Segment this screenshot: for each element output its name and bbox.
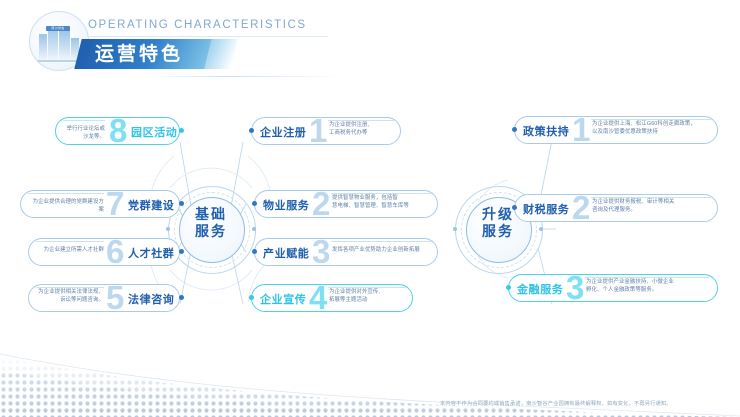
node-basic-6-name: 人才社群: [128, 245, 174, 261]
node-basic-1[interactable]: 企业注册 1 为企业提供注册、 工商税务代办等: [243, 117, 401, 145]
node-basic-2-name: 物业服务: [263, 197, 309, 213]
node-basic-2[interactable]: 物业服务 2 提供智慧物业服务，包括智 慧电梯、智慧管理、智慧车库等: [246, 190, 438, 218]
node-basic-3-desc: 发挥各项产业优势助力企业创新拓展: [332, 246, 432, 254]
node-upgrade-3-number: 3: [566, 266, 584, 310]
node-basic-5-number: 5: [106, 276, 124, 320]
node-basic-6-desc: 为企业建立所需人才社群: [36, 246, 104, 254]
node-upgrade-1-desc: 为企业提供上海、松江G60科创走廊政策， 以及南沙管委优惠政策扶持: [592, 120, 712, 136]
node-basic-5-desc: 为企业提供相关法律法规、 诉讼等问题咨询。: [36, 288, 104, 304]
node-upgrade-2-name: 财税服务: [523, 201, 569, 217]
node-basic-7-desc: 为企业提供合理的党群建设方案: [28, 198, 104, 214]
node-upgrade-1[interactable]: 政策扶持 1 为企业提供上海、松江G60科创走廊政策， 以及南沙管委优惠政策扶持: [506, 116, 718, 144]
page-title: 运营特色: [95, 43, 215, 67]
logo-cap-text: 南沙智谷: [46, 26, 70, 31]
node-basic-7[interactable]: 党群建设 7 为企业提供合理的党群建设方案: [20, 190, 188, 218]
node-upgrade-1-number: 1: [572, 108, 590, 152]
node-basic-4-number: 4: [309, 276, 327, 320]
node-basic-1-number: 1: [309, 109, 327, 153]
node-basic-2-desc: 提供智慧物业服务，包括智 慧电梯、智慧管理、智慧车库等: [332, 194, 432, 210]
node-basic-2-number: 2: [312, 182, 330, 226]
node-basic-3[interactable]: 产业赋能 3 发挥各项产业优势助力企业创新拓展: [246, 238, 438, 266]
node-basic-4-name: 企业宣传: [260, 291, 306, 307]
node-basic-1-desc: 为企业提供注册、 工商税务代办等: [329, 121, 395, 137]
node-basic-7-number: 7: [106, 182, 124, 226]
operating-characteristics-diagram: 基础 服务 企业注册 1 为企业提供注册、 工商税务代办等 物业服务 2 提供智…: [0, 92, 740, 342]
header-underline: [150, 76, 340, 77]
node-upgrade-2-number: 2: [572, 186, 590, 230]
hub-basic-services-label: 基础 服务: [179, 206, 243, 240]
node-upgrade-2[interactable]: 财税服务 2 为企业提供财务报税、审计等相关 咨询及代理服务。: [506, 194, 718, 222]
node-basic-5-name: 法律咨询: [128, 291, 174, 307]
page-header: 南沙智谷 OPERATING CHARACTERISTICS 运营特色: [0, 0, 740, 92]
node-basic-7-name: 党群建设: [128, 197, 174, 213]
node-basic-4[interactable]: 企业宣传 4 为企业提供对外宣传、 拓展等主题活动: [243, 284, 413, 312]
logo-cap: 南沙智谷: [46, 26, 70, 31]
node-basic-5[interactable]: 法律咨询 5 为企业提供相关法律法规、 诉讼等问题咨询。: [28, 284, 188, 312]
node-basic-3-name: 产业赋能: [263, 245, 309, 261]
node-basic-8[interactable]: 园区活动 8 举行行业论坛或沙龙等。: [55, 117, 188, 145]
node-basic-6[interactable]: 人才社群 6 为企业建立所需人才社群: [28, 238, 188, 266]
header-divider: [88, 36, 328, 37]
node-upgrade-3-name: 金融服务: [517, 281, 563, 297]
node-upgrade-3[interactable]: 金融服务 3 为企业提供产业金融扶持、小微企业 孵化、个人金融政策等服务。: [500, 274, 718, 302]
node-basic-6-number: 6: [106, 230, 124, 274]
node-basic-3-number: 3: [312, 230, 330, 274]
footer-disclaimer: 本内容不作为合同要约或销售承诺，南沙智谷产业园拥有最终解释权，如有变化，不再另行…: [440, 400, 736, 409]
node-upgrade-2-desc: 为企业提供财务报税、审计等相关 咨询及代理服务。: [592, 198, 712, 214]
node-basic-4-desc: 为企业提供对外宣传、 拓展等主题活动: [329, 288, 407, 304]
header-eyebrow: OPERATING CHARACTERISTICS: [88, 19, 307, 31]
node-basic-8-desc: 举行行业论坛或沙龙等。: [63, 125, 105, 141]
node-basic-8-number: 8: [109, 109, 127, 153]
node-basic-1-name: 企业注册: [260, 124, 306, 140]
node-upgrade-3-desc: 为企业提供产业金融扶持、小微企业 孵化、个人金融政策等服务。: [586, 278, 710, 294]
node-upgrade-1-name: 政策扶持: [523, 123, 569, 139]
node-basic-8-name: 园区活动: [131, 124, 177, 140]
